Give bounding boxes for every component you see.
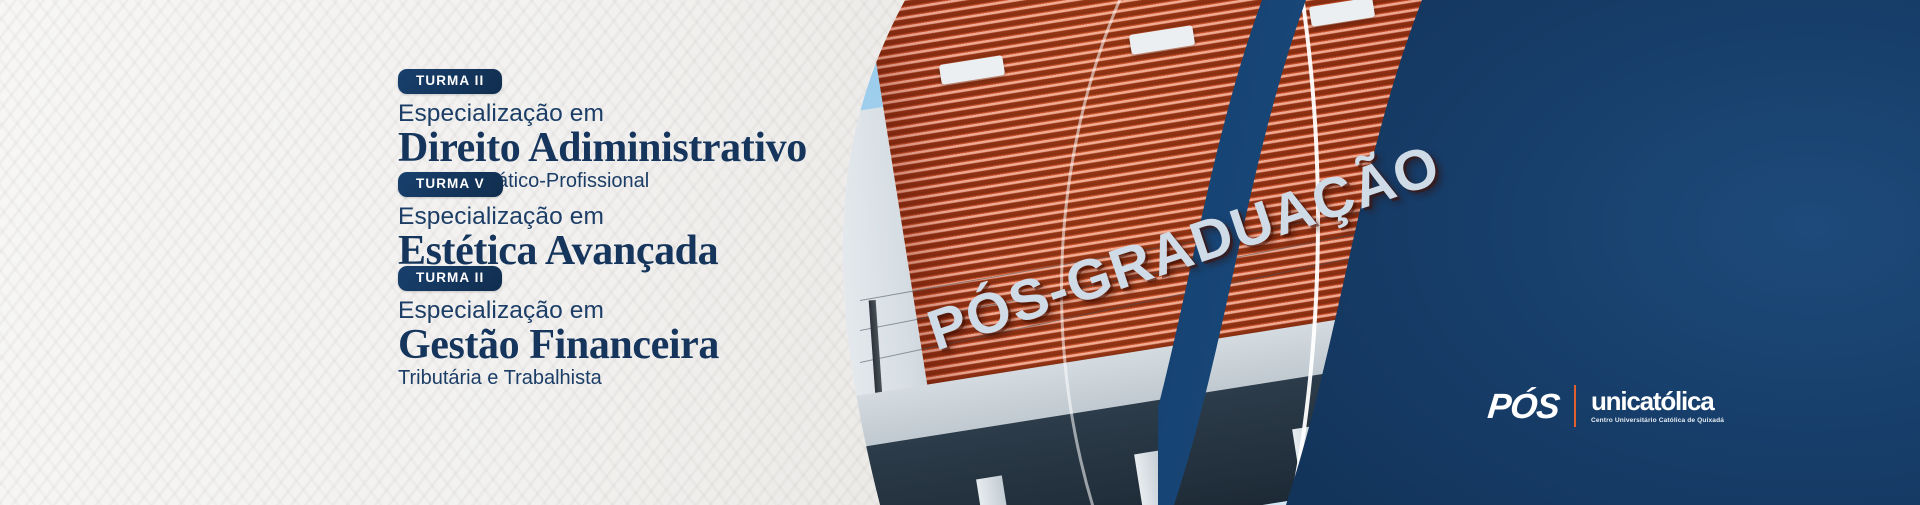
logo-university: unicatólica Centro Universitário Católic… xyxy=(1591,388,1724,425)
logo-brand-name: unicatólica xyxy=(1591,388,1724,414)
logo-pos-wordmark: PÓS xyxy=(1486,389,1561,424)
course-badge: TURMA V xyxy=(398,172,503,197)
logo-tagline: Centro Universitário Católica de Quixadá xyxy=(1591,418,1724,425)
course-pre-title: Especialização em xyxy=(398,101,807,127)
course-item-2[interactable]: TURMA V Especialização em Estética Avanç… xyxy=(398,172,718,272)
logo-divider xyxy=(1574,385,1576,427)
course-title: Gestão Financeira xyxy=(398,324,719,366)
course-badge: TURMA II xyxy=(398,266,502,291)
course-list: TURMA II Especialização em Direito Adimi… xyxy=(0,0,920,505)
course-title: Direito Adiministrativo xyxy=(398,127,807,169)
course-item-3[interactable]: TURMA II Especialização em Gestão Financ… xyxy=(398,266,719,390)
course-pre-title: Especialização em xyxy=(398,204,718,230)
brand-logo-lockup[interactable]: PÓS unicatólica Centro Universitário Cat… xyxy=(1488,385,1724,427)
course-pre-title: Especialização em xyxy=(398,298,719,324)
building-column xyxy=(976,475,1013,505)
promotional-banner: PÓS-GRADUAÇÃO TURMA II Especialização em… xyxy=(0,0,1920,505)
course-badge: TURMA II xyxy=(398,69,502,94)
course-subtitle: Tributária e Trabalhista xyxy=(398,367,719,390)
